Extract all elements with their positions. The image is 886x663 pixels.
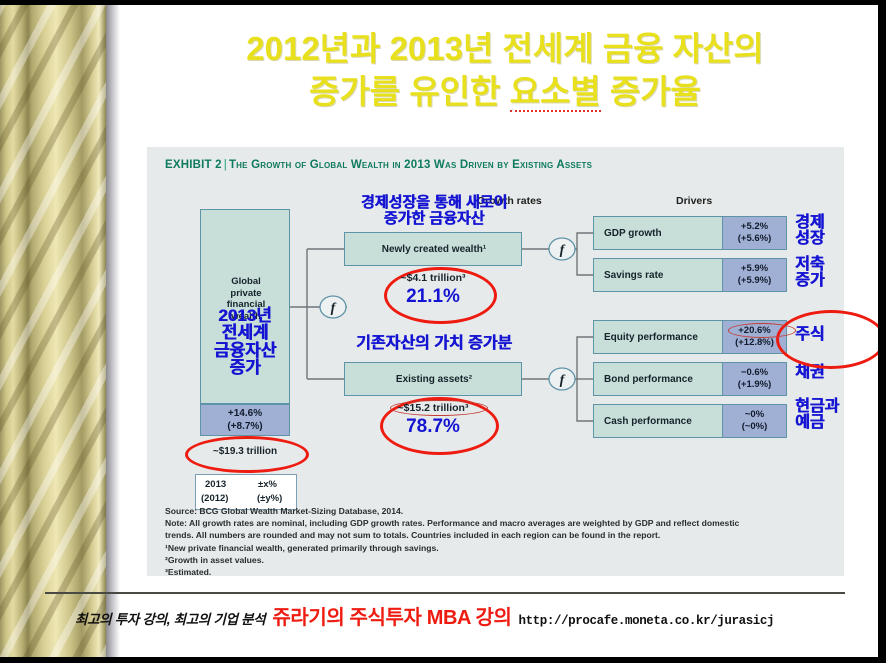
wealth-label-line1: Global [231, 276, 261, 287]
existing-assets-amount: ~$15.2 trillion³ [344, 402, 522, 414]
footer-banner: 최고의 투자 강의, 최고의 기업 분석 쥬라기의 주식투자 MBA 강의 ht… [75, 601, 865, 631]
kor0-line2: 성장 [795, 230, 824, 247]
banner-brand: 쥬라기의 주식투자 MBA 강의 [265, 601, 518, 630]
kor1-line1: 저축 [795, 256, 824, 273]
footnote-3: ³Estimated. [165, 566, 825, 578]
driver-value-bond-performance: −0.6% (+1.9%) [722, 363, 786, 395]
wealth-label-line2: private [230, 288, 261, 299]
driver-value-current-4: ~0% [745, 409, 764, 420]
existing-assets-korean-annotation: 기존자산의 가치 증가분 [322, 329, 546, 353]
existing-assets-label: Existing assets² [345, 374, 523, 385]
existing-assets-percent: 78.7% [344, 416, 522, 438]
title-line-2-c: 증가율 [601, 73, 701, 110]
frame-right-edge [878, 0, 886, 663]
wealth-kor-line4: 증가 [229, 358, 260, 377]
driver-value-prior-4: (~0%) [742, 421, 768, 432]
title-line-2-a: 증가를 유인한 [309, 73, 510, 110]
legend-year-current: 2013 [205, 479, 226, 490]
exhibit-panel: EXHIBIT 2|The Growth of Global Wealth in… [147, 147, 844, 576]
kor0-line1: 경제 [795, 214, 824, 231]
kor4-line2: 예금 [795, 414, 824, 431]
exhibit-notes: Source: BCG Global Wealth Market-Sizing … [165, 505, 825, 578]
global-wealth-korean-annotation: 2013년 전세계 금융자산 증가 [194, 307, 296, 376]
note-source: Source: BCG Global Wealth Market-Sizing … [165, 505, 825, 517]
banner-tagline: 최고의 투자 강의, 최고의 기업 분석 [75, 608, 265, 628]
driver-row-bond-performance: Bond performance −0.6% (+1.9%) [593, 362, 787, 396]
legend-value-prior: (±y%) [257, 493, 282, 504]
driver-value-prior-1: (+5.9%) [738, 275, 772, 286]
driver-name-bond-performance: Bond performance [604, 374, 693, 385]
wealth-kor-line3: 금융자산 [214, 341, 277, 360]
footnote-2: ²Growth in asset values. [165, 554, 825, 566]
driver-value-prior-3: (+1.9%) [738, 379, 772, 390]
driver-korean-label-gdp-growth: 경제 성장 [795, 215, 824, 247]
driver-value-current-1: +5.9% [741, 263, 768, 274]
driver-korean-label-cash-performance: 현금과 예금 [795, 399, 839, 431]
title-line-1: 2012년과 2013년 전세계 금융 자산의 [150, 28, 860, 71]
title-line-2: 증가를 유인한 요소별 증가율 [150, 71, 860, 114]
driver-value-current-3: −0.6% [741, 367, 768, 378]
newly-created-wealth-box: Newly created wealth¹ [344, 232, 522, 266]
driver-row-savings-rate: Savings rate +5.9% (+5.9%) [593, 258, 787, 292]
driver-row-cash-performance: Cash performance ~0% (~0%) [593, 404, 787, 438]
driver-value-gdp-growth: +5.2% (+5.6%) [722, 217, 786, 249]
note-line-2: trends. All numbers are rounded and may … [165, 529, 825, 541]
title-line-2-underlined: 요소별 [510, 73, 601, 112]
kor4-line1: 현금과 [795, 398, 839, 415]
newly-created-amount: ~$4.1 trillion³ [344, 272, 522, 284]
driver-value-current-0: +5.2% [741, 221, 768, 232]
global-wealth-growth-value: +14.6% (+8.7%) [200, 404, 290, 436]
highlight-ellipse-equity [776, 310, 886, 369]
newly-created-wealth-label: Newly created wealth¹ [345, 244, 523, 255]
highlight-ellipse-equity-value [728, 323, 796, 338]
wealth-kor-line2: 전세계 [222, 323, 269, 342]
driver-row-gdp-growth: GDP growth +5.2% (+5.6%) [593, 216, 787, 250]
decorative-gold-border [0, 0, 106, 663]
existing-assets-box: Existing assets² [344, 362, 522, 396]
banner-divider [45, 592, 845, 594]
driver-name-cash-performance: Cash performance [604, 416, 692, 427]
wealth-value-current: +14.6% [228, 408, 262, 419]
wealth-kor-line1: 2013년 [218, 306, 271, 325]
frame-bottom-edge [0, 657, 886, 663]
page-title: 2012년과 2013년 전세계 금융 자산의 증가를 유인한 요소별 증가율 [150, 28, 860, 114]
legend-year-prior: (2012) [201, 493, 228, 504]
driver-value-savings-rate: +5.9% (+5.9%) [722, 259, 786, 291]
slide: 2012년과 2013년 전세계 금융 자산의 증가를 유인한 요소별 증가율 … [0, 0, 886, 663]
frame-top-edge [0, 0, 886, 5]
kor1-line2: 증가 [795, 272, 824, 289]
new-kor-line2: 증가한 금융자산 [384, 210, 485, 227]
footnote-1: ¹New private financial wealth, generated… [165, 542, 825, 554]
driver-name-savings-rate: Savings rate [604, 270, 663, 281]
banner-url[interactable]: http://procafe.moneta.co.kr/jurasicj [518, 614, 774, 628]
decorative-gradient-shadow [106, 0, 120, 663]
driver-korean-label-savings-rate: 저축 증가 [795, 257, 824, 289]
driver-value-prior-0: (+5.6%) [738, 233, 772, 244]
wealth-value-prior: (+8.7%) [227, 421, 262, 432]
driver-value-prior-2: (+12.8%) [735, 337, 774, 348]
legend-value-current: ±x% [258, 479, 277, 490]
driver-value-cash-performance: ~0% (~0%) [722, 405, 786, 437]
note-line-1: Note: All growth rates are nominal, incl… [165, 517, 825, 529]
newly-created-percent: 21.1% [344, 286, 522, 308]
new-kor-line1: 경제성장을 통해 새로이 [361, 194, 507, 211]
driver-name-equity-performance: Equity performance [604, 332, 698, 343]
driver-name-gdp-growth: GDP growth [604, 228, 662, 239]
global-wealth-total-amount: ~$19.3 trillion [193, 439, 297, 465]
newly-created-korean-annotation: 경제성장을 통해 새로이 증가한 금융자산 [322, 195, 546, 227]
